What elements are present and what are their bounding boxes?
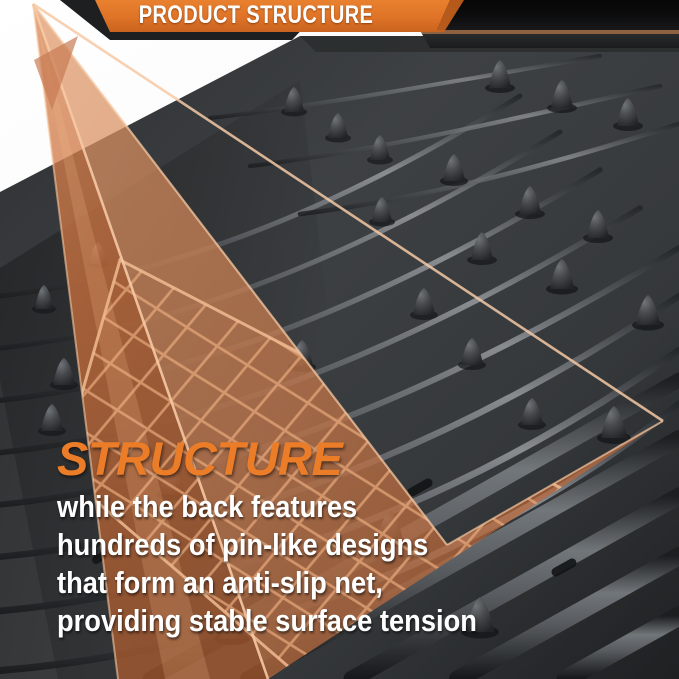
copy-line-1: while the back features (57, 488, 435, 526)
copy-line-3: that form an anti-slip net, (57, 564, 435, 602)
copy-line-2: hundreds of pin-like designs (57, 526, 435, 564)
thin-orange-seam (420, 30, 679, 34)
structure-heading: STRUCTURE (57, 432, 487, 485)
banner-ribbon (95, 0, 450, 32)
structure-copy-block: STRUCTURE while the back features hundre… (57, 432, 487, 640)
lower-dark-band (422, 34, 679, 48)
product-structure-graphic: PRODUCT STRUCTURE STRUCTURE while the ba… (0, 0, 679, 679)
copy-line-4: providing stable surface tension (57, 602, 435, 640)
